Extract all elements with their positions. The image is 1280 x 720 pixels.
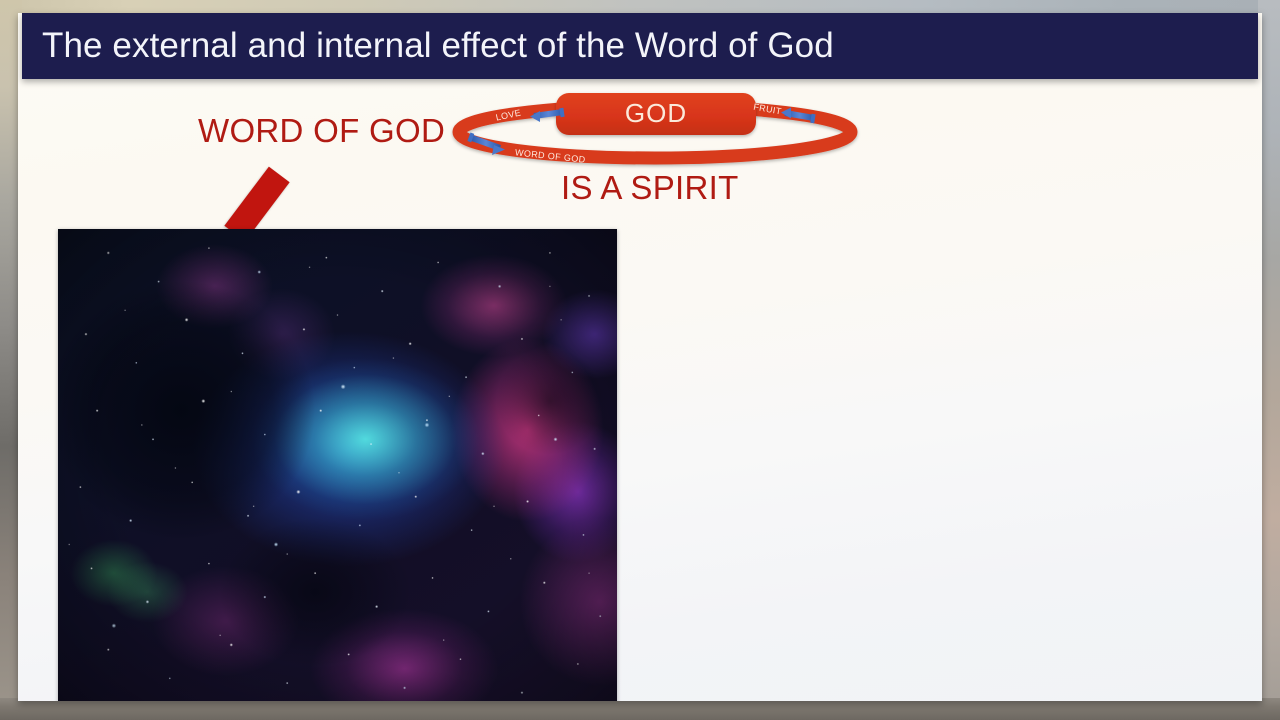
nebula-image <box>58 229 617 701</box>
god-cycle-diagram: GOD LOVE FRUIT <box>450 91 874 173</box>
presentation-slide: The external and internal effect of the … <box>18 13 1262 701</box>
slide-content-area: WORD OF GOD IS A SPIRIT <box>18 79 1262 701</box>
heading-word-of-god: WORD OF GOD <box>198 112 445 150</box>
slide-title: The external and internal effect of the … <box>42 26 834 66</box>
nebula-vignette-layer <box>58 229 617 701</box>
god-box-label: GOD <box>625 98 687 128</box>
heading-is-a-spirit: IS A SPIRIT <box>561 169 739 207</box>
slide-title-bar: The external and internal effect of the … <box>22 13 1258 79</box>
screen: The external and internal effect of the … <box>0 0 1280 720</box>
desktop-frame-top <box>0 0 1280 14</box>
desktop-frame-bottom <box>0 698 1280 720</box>
